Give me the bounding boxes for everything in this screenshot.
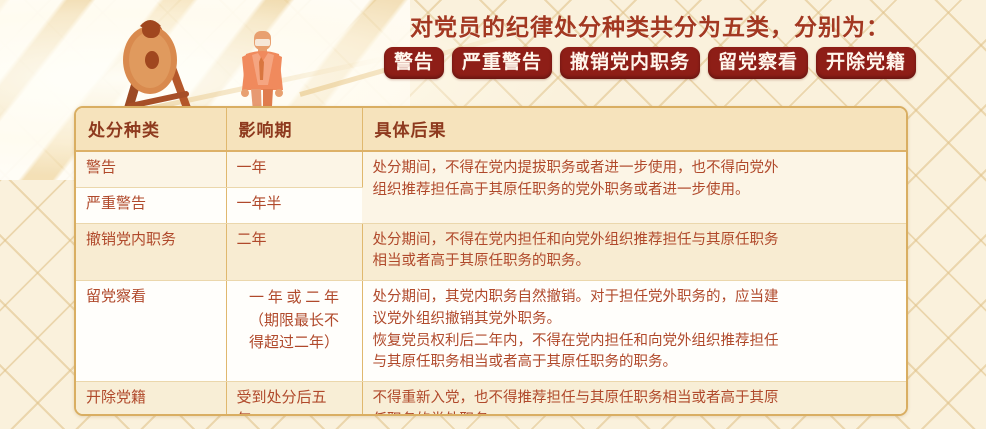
period-line: 年 (237, 410, 352, 416)
period-line: 受到处分后五 (237, 388, 352, 410)
badge-expulsion[interactable]: 开除党籍 (816, 47, 916, 79)
badge-remove-party-post[interactable]: 撤销党内职务 (560, 47, 700, 79)
cell-period: 受到处分后五 年 (226, 382, 362, 417)
period-line: 一 年 或 二 年 (237, 287, 352, 310)
cell-effect: 处分期间，其党内职务自然撤销。对于担任党外职务的，应当建 议党外组织撤销其党外职… (362, 281, 906, 382)
effect-line: 处分期间，不得在党内提拔职务或者进一步使用，也不得向党外 (373, 158, 897, 180)
effect-line: 议党外组织撤销其党外职务。 (373, 309, 897, 331)
badge-probation[interactable]: 留党察看 (708, 47, 808, 79)
cell-kind: 开除党籍 (76, 382, 226, 417)
header: 对党员的纪律处分种类共分为五类，分别为： 警告 严重警告 撤销党内职务 留党察看… (320, 8, 980, 100)
effect-line: 不得重新入党，也不得推荐担任与其原任职务相当或者高于其原 (373, 388, 897, 410)
period-line: （期限最长不 (237, 310, 352, 333)
effect-line: 处分期间，其党内职务自然撤销。对于担任党外职务的，应当建 (373, 287, 897, 309)
cell-kind: 留党察看 (76, 281, 226, 382)
column-header-kind: 处分种类 (76, 108, 226, 151)
cell-period: 一年 (226, 151, 362, 187)
cell-effect: 处分期间，不得在党内提拔职务或者进一步使用，也不得向党外 组织推荐担任高于其原任… (362, 151, 906, 223)
discipline-type-badge-list: 警告 严重警告 撤销党内职务 留党察看 开除党籍 (384, 47, 916, 79)
table-header-row: 处分种类 影响期 具体后果 (76, 108, 906, 151)
cell-kind: 严重警告 (76, 187, 226, 223)
table-row: 留党察看 一 年 或 二 年 （期限最长不 得超过二年） 处分期间，其党内职务自… (76, 281, 906, 382)
effect-line: 任职务的党外职务。 (373, 410, 897, 416)
page-title: 对党员的纪律处分种类共分为五类，分别为： (410, 8, 890, 42)
cell-period: 一年半 (226, 187, 362, 223)
effect-line: 处分期间，不得在党内担任和向党外组织推荐担任与其原任职务 (373, 230, 897, 252)
discipline-table: 处分种类 影响期 具体后果 警告 一年 处分期间，不得在党内提拔职务或者进一步使… (74, 106, 908, 416)
cell-kind: 警告 (76, 151, 226, 187)
column-header-effect: 具体后果 (362, 108, 906, 151)
cell-period: 一 年 或 二 年 （期限最长不 得超过二年） (226, 281, 362, 382)
table-row: 撤销党内职务 二年 处分期间，不得在党内担任和向党外组织推荐担任与其原任职务 相… (76, 223, 906, 281)
badge-serious-warning[interactable]: 严重警告 (452, 47, 552, 79)
table-row: 警告 一年 处分期间，不得在党内提拔职务或者进一步使用，也不得向党外 组织推荐担… (76, 151, 906, 187)
table-row: 开除党籍 受到处分后五 年 不得重新入党，也不得推荐担任与其原任职务相当或者高于… (76, 382, 906, 417)
period-line: 得超过二年） (237, 332, 352, 355)
effect-line: 组织推荐担任高于其原任职务的党外职务或者进一步使用。 (373, 180, 897, 202)
effect-line: 与其原任职务相当或者高于其原任职务的职务。 (373, 352, 897, 374)
column-header-period: 影响期 (226, 108, 362, 151)
cell-effect: 处分期间，不得在党内担任和向党外组织推荐担任与其原任职务 相当或者高于其原任职务… (362, 223, 906, 281)
cell-kind: 撤销党内职务 (76, 223, 226, 281)
effect-line: 相当或者高于其原任职务的职务。 (373, 251, 897, 273)
cell-effect: 不得重新入党，也不得推荐担任与其原任职务相当或者高于其原 任职务的党外职务。 (362, 382, 906, 417)
infographic-page: 对党员的纪律处分种类共分为五类，分别为： 警告 严重警告 撤销党内职务 留党察看… (0, 0, 986, 429)
badge-warning[interactable]: 警告 (384, 47, 444, 79)
cell-period: 二年 (226, 223, 362, 281)
effect-line: 恢复党员权利后二年内，不得在党内担任和向党外组织推荐担任 (373, 331, 897, 353)
